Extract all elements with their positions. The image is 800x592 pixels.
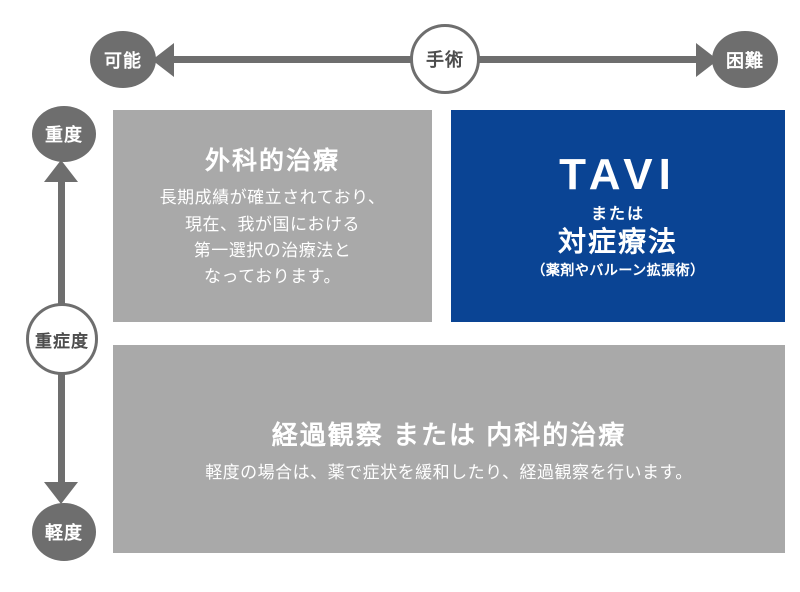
- axis-title-severity: 重症度: [26, 303, 98, 375]
- treatment-box-surgical-body-line-2: 現在、我が国における: [160, 212, 386, 238]
- treatment-box-surgical-body-line-4: なっております。: [160, 264, 386, 290]
- axis-label-severity-low: 軽度: [32, 503, 96, 561]
- treatment-box-tavi-conjunction: または: [591, 200, 645, 224]
- treatment-box-surgical-title: 外科的治療: [205, 141, 340, 177]
- arrow-up-icon: [44, 160, 78, 182]
- treatment-box-surgical-body-line-3: 第一選択の治療法と: [160, 238, 386, 264]
- treatment-box-tavi-note: （薬剤やバルーン拡張術）: [531, 260, 704, 280]
- treatment-box-surgical: 外科的治療 長期成績が確立されており、 現在、我が国における 第一選択の治療法と…: [113, 110, 432, 322]
- treatment-box-observation-title: 経過観察 または 内科的治療: [272, 415, 626, 452]
- arrow-down-icon: [44, 482, 78, 504]
- treatment-box-surgical-body: 長期成績が確立されており、 現在、我が国における 第一選択の治療法と なっており…: [160, 185, 386, 290]
- treatment-box-observation: 経過観察 または 内科的治療 軽度の場合は、薬で症状を緩和したり、経過観察を行い…: [113, 345, 785, 553]
- axis-title-surgery: 手術: [410, 24, 480, 94]
- treatment-box-surgical-body-line-1: 長期成績が確立されており、: [160, 185, 386, 211]
- axis-label-surgery-possible: 可能: [90, 31, 156, 88]
- axis-label-severity-high: 重度: [32, 106, 96, 162]
- treatment-box-tavi-acronym: TAVI: [559, 152, 677, 198]
- treatment-box-tavi-alternative: 対症療法: [558, 226, 678, 258]
- axis-label-surgery-difficult: 困難: [712, 31, 778, 88]
- treatment-box-tavi: TAVI または 対症療法 （薬剤やバルーン拡張術）: [451, 110, 785, 322]
- treatment-box-observation-body: 軽度の場合は、薬で症状を緩和したり、経過観察を行います。: [205, 458, 693, 483]
- diagram-canvas: 可能 手術 困難 重度 重症度 軽度 外科的治療 長期成績が確立されており、 現…: [0, 0, 800, 592]
